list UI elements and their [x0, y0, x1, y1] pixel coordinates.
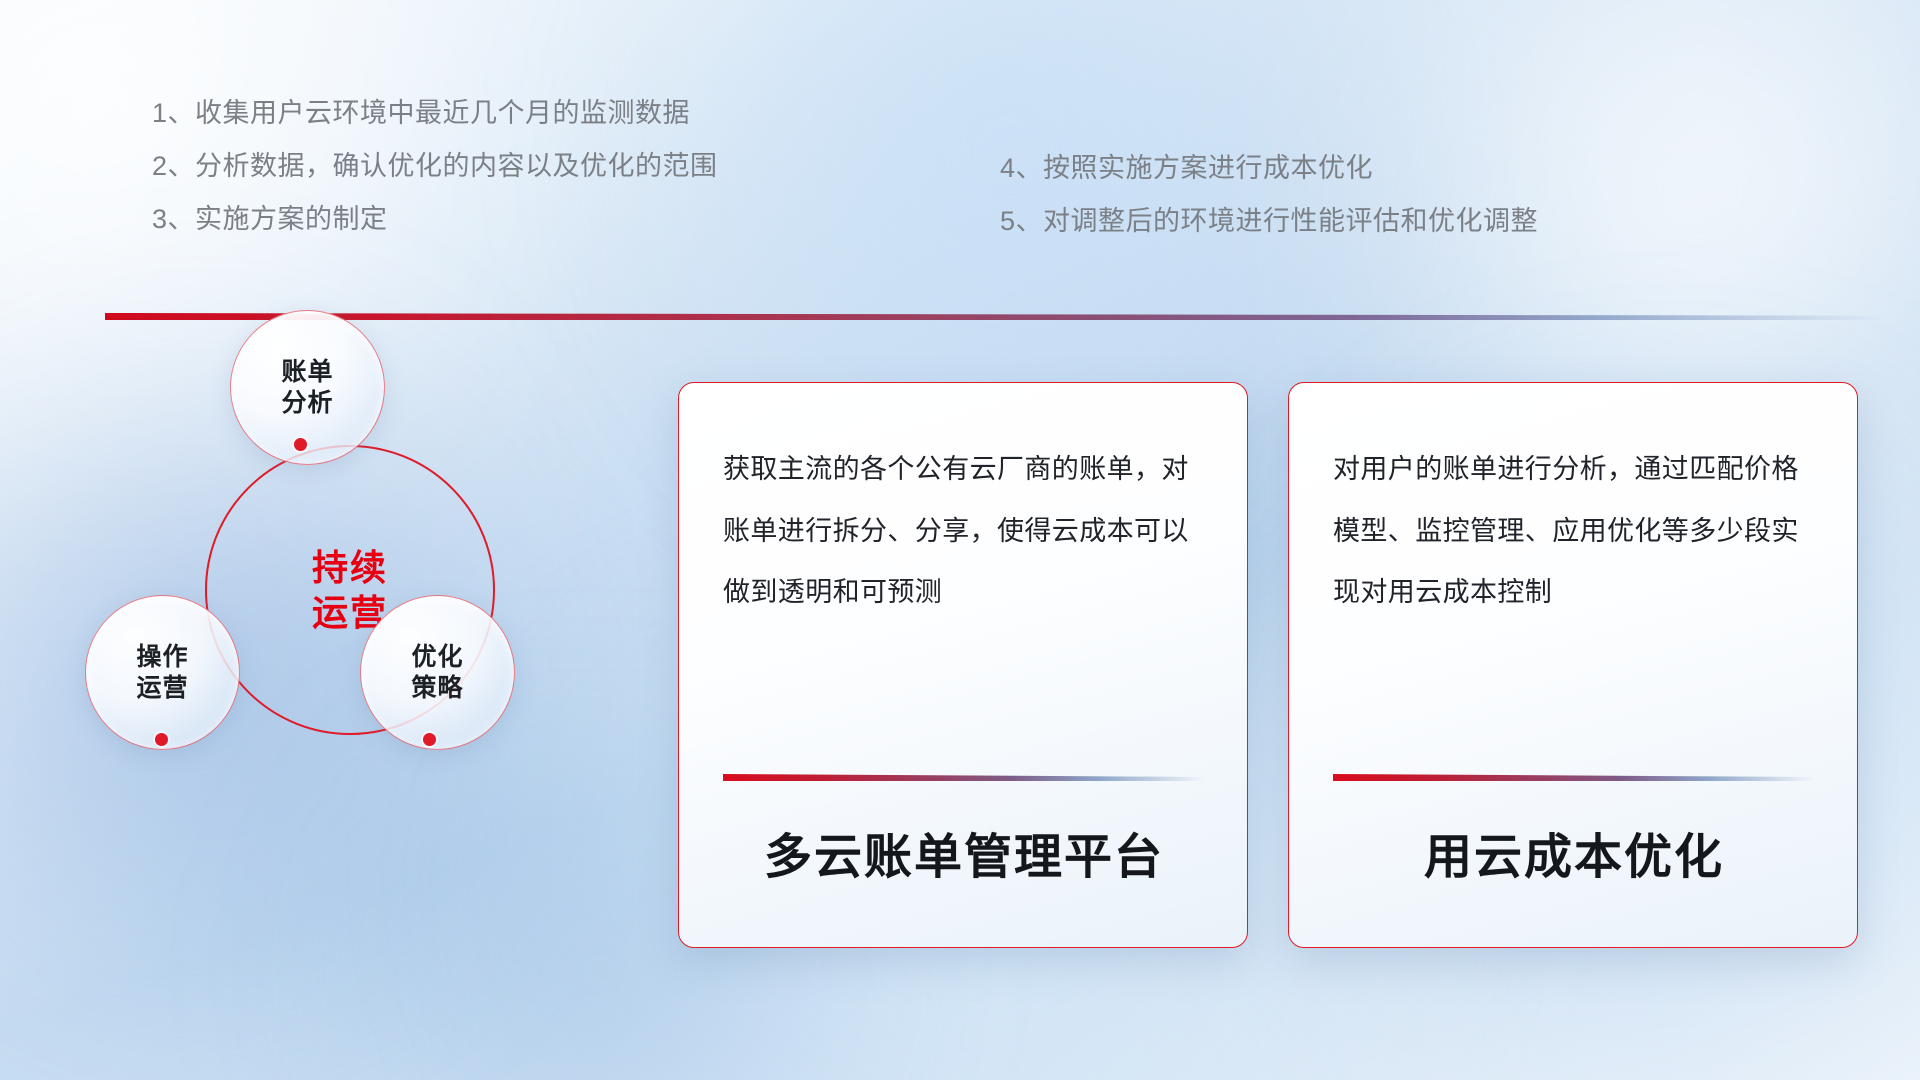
list-item: 1、收集用户云环境中最近几个月的监测数据	[152, 100, 718, 127]
bubble-optimization-strategy[interactable]: 优化 策略	[360, 595, 515, 750]
card-body-text: 获取主流的各个公有云厂商的账单，对账单进行拆分、分享，使得云成本可以做到透明和可…	[723, 439, 1203, 624]
list-item: 3、实施方案的制定	[152, 206, 718, 233]
steps-list-left: 1、收集用户云环境中最近几个月的监测数据 2、分析数据，确认优化的内容以及优化的…	[152, 100, 718, 259]
bubble-label-line-2: 策略	[411, 673, 463, 704]
bubble-label-line-1: 账单	[281, 357, 333, 388]
center-label-line-1: 持续	[312, 545, 388, 590]
venn-circle-diagram: 持续 运营 账单 分析 操作 运营 优化 策略	[60, 295, 580, 775]
bubble-label-line-2: 运营	[136, 673, 188, 704]
connector-dot-left	[155, 733, 168, 746]
bubble-label-line-2: 分析	[281, 388, 333, 419]
connector-dot-right	[423, 733, 436, 746]
list-item: 5、对调整后的环境进行性能评估和优化调整	[1000, 208, 1538, 235]
list-item: 4、按照实施方案进行成本优化	[1000, 155, 1538, 182]
bubble-bill-analysis[interactable]: 账单 分析	[230, 310, 385, 465]
card-divider-rule	[1333, 774, 1815, 781]
bubble-operations[interactable]: 操作 运营	[85, 595, 240, 750]
steps-list-right: 4、按照实施方案进行成本优化 5、对调整后的环境进行性能评估和优化调整	[1000, 155, 1538, 261]
card-divider-rule	[723, 774, 1205, 781]
bubble-label-line-1: 优化	[411, 642, 463, 673]
card-title: 用云成本优化	[1333, 832, 1815, 885]
list-item: 2、分析数据，确认优化的内容以及优化的范围	[152, 153, 718, 180]
card-title: 多云账单管理平台	[723, 832, 1205, 885]
connector-dot-top	[294, 438, 307, 451]
card-body-text: 对用户的账单进行分析，通过匹配价格模型、监控管理、应用优化等多少段实现对用云成本…	[1333, 439, 1813, 624]
bubble-label-line-1: 操作	[136, 642, 188, 673]
feature-card-cost-optimization[interactable]: 对用户的账单进行分析，通过匹配价格模型、监控管理、应用优化等多少段实现对用云成本…	[1288, 382, 1858, 948]
feature-card-multicloud-billing[interactable]: 获取主流的各个公有云厂商的账单，对账单进行拆分、分享，使得云成本可以做到透明和可…	[678, 382, 1248, 948]
